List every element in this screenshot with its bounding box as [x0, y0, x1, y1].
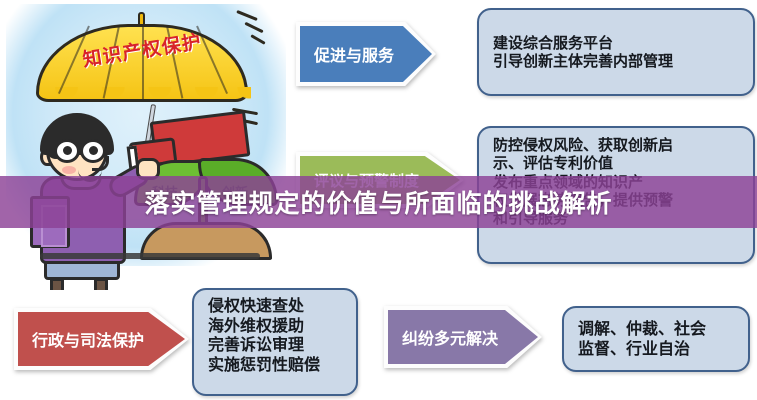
box-line: 监督、行业自治 — [578, 339, 706, 359]
box-administrative-judicial[interactable]: 侵权快速查处 海外维权援助 完善诉讼审理 实施惩罚性赔偿 — [192, 288, 358, 396]
cheek-blush — [62, 166, 76, 174]
box-line: 海外维权援助 — [208, 316, 320, 336]
box-line: 侵权快速查处 — [208, 296, 320, 316]
ground-line — [40, 253, 260, 259]
infographic-canvas: 知识产权保护 科技 创新 — [0, 0, 757, 400]
box-line: 示、评估专利价值 — [493, 154, 673, 172]
ip-protection-illustration: 知识产权保护 科技 创新 — [0, 0, 300, 290]
box-dispute-resolution[interactable]: 调解、仲裁、社会 监督、行业自治 — [562, 306, 750, 372]
box-line: 建设综合服务平台 — [493, 34, 673, 52]
eye-left — [63, 146, 72, 155]
eye-right — [89, 146, 98, 155]
box-promote-service[interactable]: 建设综合服务平台 引导创新主体完善内部管理 — [477, 8, 755, 96]
box-line: 调解、仲裁、社会 — [578, 319, 706, 339]
box-line: 引导创新主体完善内部管理 — [493, 52, 673, 70]
overlay-banner: 落实管理规定的价值与所面临的挑战解析 — [0, 176, 757, 228]
arrow-dispute-resolution[interactable]: 纠纷多元解决 — [384, 306, 542, 368]
arrow-label-promote-service: 促进与服务 — [300, 42, 394, 66]
arrow-administrative-judicial[interactable]: 行政与司法保护 — [14, 308, 189, 370]
overlay-banner-title: 落实管理规定的价值与所面临的挑战解析 — [144, 184, 612, 220]
umbrella-scallop-edge — [39, 87, 251, 109]
arrow-label-administrative-judicial: 行政与司法保护 — [18, 327, 144, 351]
box-line: 实施惩罚性赔偿 — [208, 355, 320, 375]
umbrella-graphic: 知识产权保护 — [36, 10, 248, 110]
box-line: 完善诉讼审理 — [208, 335, 320, 355]
arrow-promote-service[interactable]: 促进与服务 — [296, 22, 436, 86]
arrow-label-dispute-resolution: 纠纷多元解决 — [388, 325, 498, 349]
box-line: 防控侵权风险、获取创新启 — [493, 136, 673, 154]
